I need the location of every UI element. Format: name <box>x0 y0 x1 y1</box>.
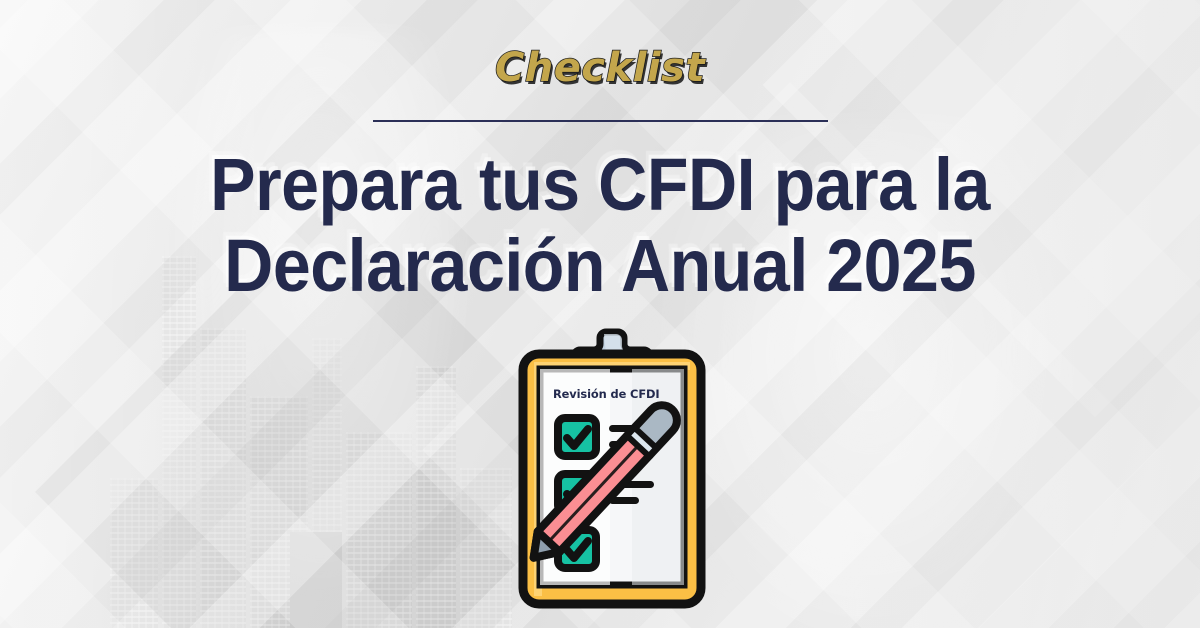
paper-title: Revisión de CFDI <box>553 387 660 401</box>
clipboard-illustration: Revisión de CFDI <box>512 328 712 610</box>
page-title: Prepara tus CFDI para la Declaración Anu… <box>48 144 1152 307</box>
eyebrow-label: Checklist <box>0 48 1200 88</box>
page-title-line-1: Prepara tus CFDI para la <box>48 144 1152 225</box>
divider-rule <box>373 120 828 122</box>
page-title-line-2: Declaración Anual 2025 <box>48 225 1152 306</box>
banner-content: Checklist Prepara tus CFDI para la Decla… <box>0 0 1200 628</box>
promo-banner: Checklist Prepara tus CFDI para la Decla… <box>0 0 1200 628</box>
